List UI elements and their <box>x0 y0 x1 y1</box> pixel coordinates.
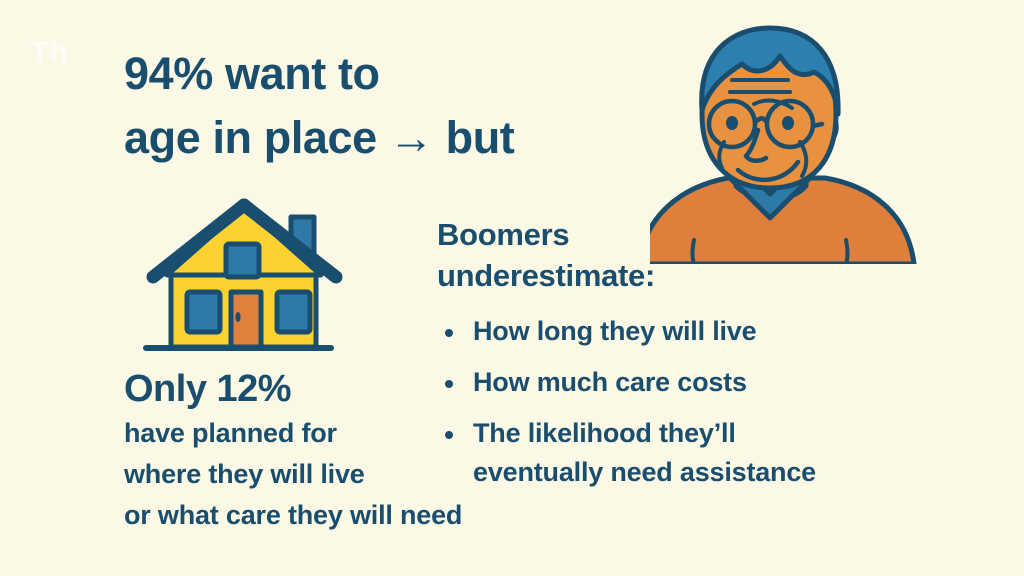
list-item: How much care costs <box>437 363 937 403</box>
door-knob <box>235 312 240 322</box>
infographic-canvas: Th 94% want to age in place → but <box>0 0 1024 576</box>
watermark-text: Th <box>30 38 69 68</box>
right-window <box>277 292 310 332</box>
list-item-line: The likelihood they’ll <box>473 414 937 452</box>
front-door <box>231 292 261 347</box>
list-item-line: How much care costs <box>473 363 937 403</box>
bullet-dot-icon <box>445 329 453 337</box>
list-item-line: How long they will live <box>473 312 937 352</box>
underestimate-list: How long they will live How much care co… <box>437 312 937 491</box>
left-eye <box>726 116 738 130</box>
bullet-dot-icon <box>445 380 453 388</box>
list-item: How long they will live <box>437 312 937 352</box>
headline-line-2: age in place → but <box>124 106 644 170</box>
attic-window <box>226 244 259 277</box>
left-window <box>187 292 220 332</box>
elderly-man-illustration <box>650 18 925 264</box>
list-item-line: eventually need assistance <box>473 453 937 491</box>
glasses-temple <box>813 124 822 126</box>
right-eye <box>782 116 794 130</box>
bullet-dot-icon <box>445 431 453 439</box>
page-title: 94% want to age in place → but <box>124 42 644 170</box>
headline-line-1: 94% want to <box>124 42 644 106</box>
list-item: The likelihood they’ll eventually need a… <box>437 414 937 491</box>
house-illustration <box>131 192 421 370</box>
